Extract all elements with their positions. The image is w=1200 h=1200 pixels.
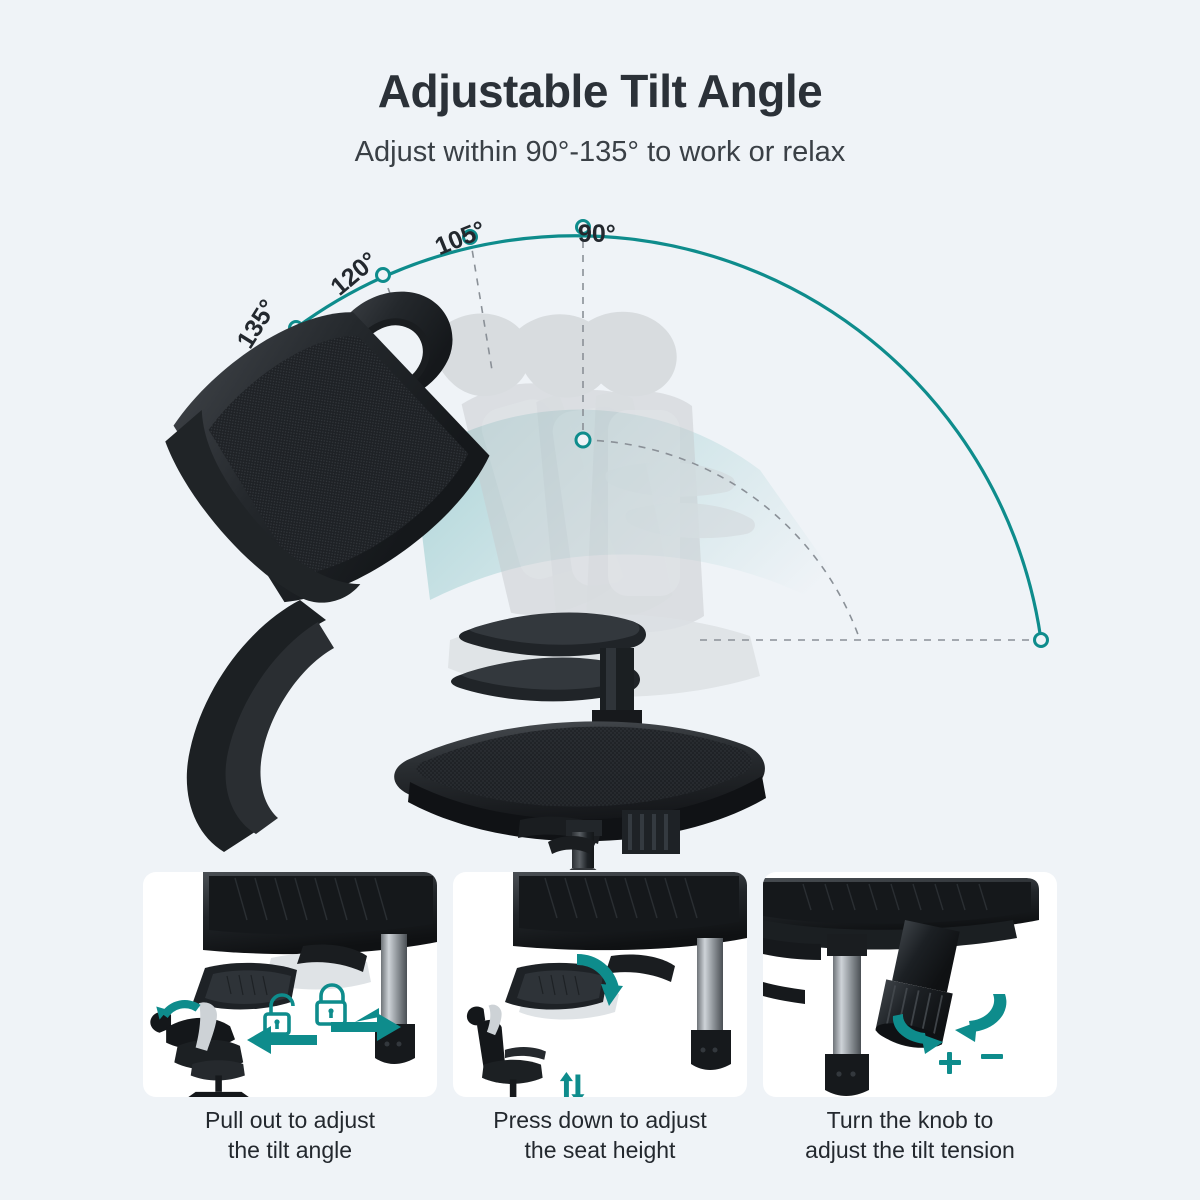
plus-symbol (939, 1052, 961, 1074)
angle-label-90: 90° (578, 220, 616, 249)
tilt-angle-diagram: 135° 120° 105° 90° (0, 170, 1200, 870)
minus-symbol (981, 1054, 1003, 1059)
chair-recline-thumbnail (150, 1000, 253, 1097)
page-title: Adjustable Tilt Angle (0, 64, 1200, 118)
caption-tilt-tension: Turn the knob to adjust the tilt tension (763, 1105, 1057, 1166)
feature-panels (143, 872, 1058, 1097)
panel-captions: Pull out to adjust the tilt angle Press … (143, 1105, 1058, 1166)
caption-line-2: adjust the tilt tension (805, 1137, 1015, 1163)
tension-knob (622, 810, 680, 854)
caption-line-1: Turn the knob to (827, 1107, 994, 1133)
pivot-node (576, 433, 590, 447)
rotate-right-icon (955, 994, 1006, 1042)
caption-line-2: the seat height (525, 1137, 676, 1163)
caption-line-2: the tilt angle (228, 1137, 352, 1163)
lock-icon (317, 985, 345, 1024)
infographic-root: Adjustable Tilt Angle Adjust within 90°-… (0, 0, 1200, 1200)
panel-tilt-tension (763, 872, 1057, 1097)
caption-seat-height: Press down to adjust the seat height (453, 1105, 747, 1166)
caption-tilt-angle: Pull out to adjust the tilt angle (143, 1105, 437, 1166)
page-subtitle: Adjust within 90°-135° to work or relax (0, 136, 1200, 169)
arrow-left-icon (247, 1026, 317, 1054)
panel-tilt-angle (143, 872, 437, 1097)
caption-line-1: Press down to adjust (493, 1107, 707, 1133)
caption-line-1: Pull out to adjust (205, 1107, 375, 1133)
panel-seat-height (453, 872, 747, 1097)
arc-node-end (1035, 634, 1048, 647)
